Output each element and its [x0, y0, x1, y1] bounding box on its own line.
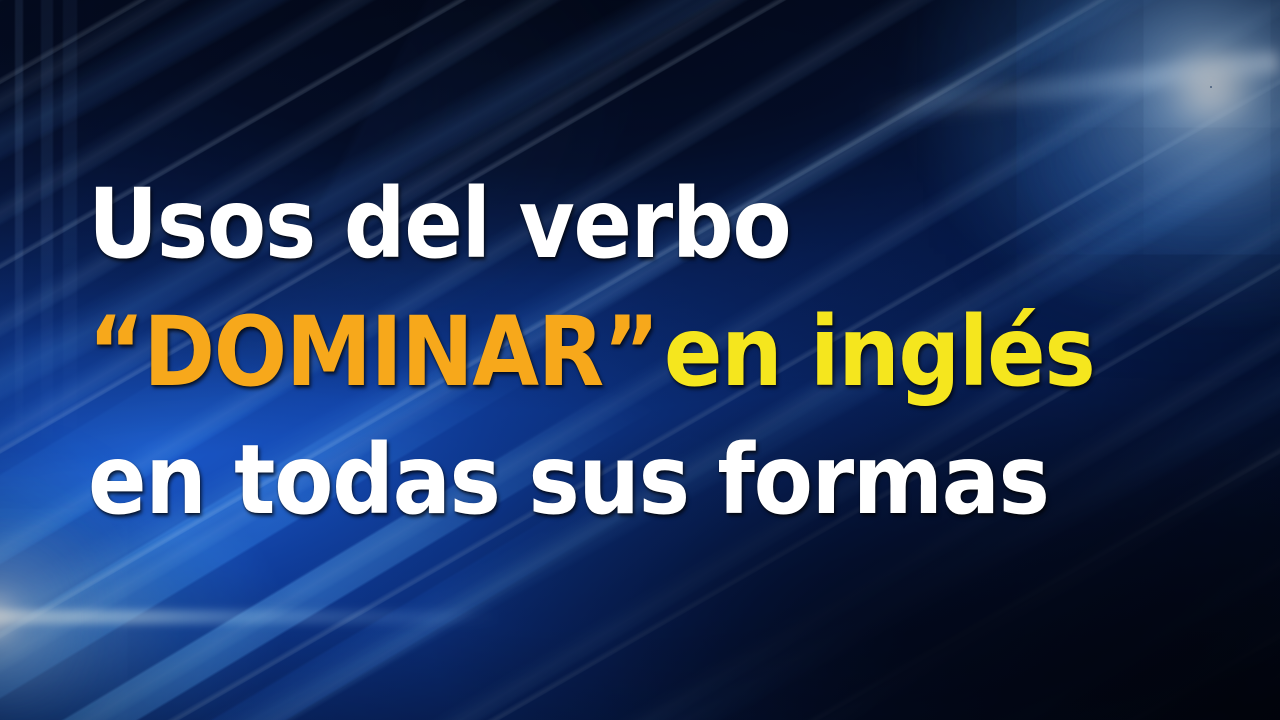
lens-flare-top-right-core — [1210, 86, 1212, 88]
lens-flare-bottom-left-streak — [0, 610, 500, 624]
title-line-3: en todas sus formas — [88, 416, 1087, 544]
title-line-2-suffix: en inglés — [664, 296, 1095, 408]
title-line-3-text: en todas sus formas — [88, 424, 1049, 536]
lens-flare-top-right-streak — [860, 50, 1280, 123]
title-line-2: “DOMINAR”en inglés — [88, 288, 1087, 416]
title-card-canvas: Usos del verbo “DOMINAR”en inglés en tod… — [0, 0, 1280, 720]
title-text-block: Usos del verbo “DOMINAR”en inglés en tod… — [88, 160, 1198, 544]
title-line-1: Usos del verbo — [88, 160, 1087, 288]
title-line-1-text: Usos del verbo — [88, 168, 790, 280]
title-keyword-dominar: “DOMINAR” — [88, 296, 658, 408]
